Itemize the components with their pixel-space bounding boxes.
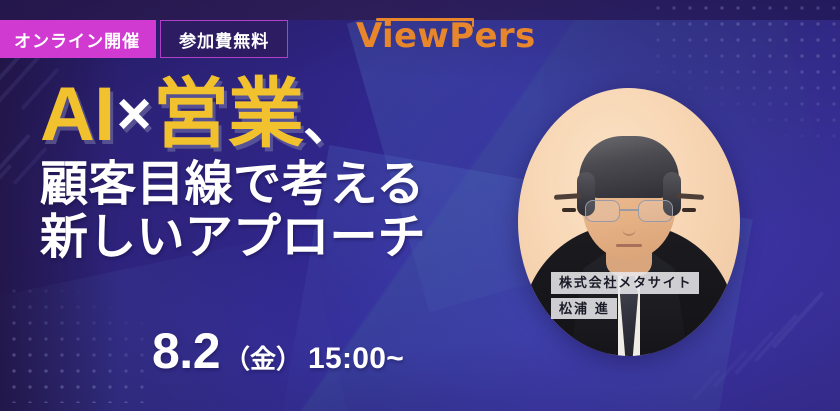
multiply-icon: × <box>114 80 152 147</box>
badge-online: オンライン開催 <box>0 20 156 58</box>
lens-right <box>638 200 673 222</box>
webinar-banner: オンライン開催 参加費無料 ViewPers AI×営業、 顧客目線で考える 新… <box>0 0 840 411</box>
lens-left <box>585 200 620 222</box>
badge-bar: オンライン開催 参加費無料 <box>0 20 288 58</box>
headline-block: AI×営業、 顧客目線で考える 新しいアプローチ <box>40 78 426 263</box>
event-date: 8.2 <box>152 326 220 376</box>
speaker-company: 株式会社メタサイト <box>551 272 699 294</box>
badge-free: 参加費無料 <box>160 20 288 58</box>
headline-line-1: AI×営業、 <box>40 78 426 152</box>
headline-line-2: 顧客目線で考える <box>40 160 426 210</box>
speaker-name: 松浦 進 <box>551 298 617 320</box>
mouth-shape <box>616 244 642 247</box>
logo-overline-mark <box>376 18 474 21</box>
event-time: 15:00~ <box>308 342 404 376</box>
headline-comma: 、 <box>303 95 352 151</box>
headline-line-3: 新しいアプローチ <box>40 213 426 263</box>
headline-ai-text: AI <box>40 72 114 157</box>
viewpers-logo: ViewPers <box>356 16 536 53</box>
headline-sales-text: 営業 <box>153 72 303 157</box>
eye-right <box>682 208 696 212</box>
glasses-bridge <box>620 209 638 211</box>
logo-text: ViewPers <box>356 16 536 56</box>
speaker-info: 株式会社メタサイト 松浦 進 <box>551 272 699 319</box>
nose-shape <box>622 220 636 236</box>
event-weekday: （金） <box>224 339 302 376</box>
event-datetime: 8.2 （金） 15:00~ <box>152 326 404 376</box>
eye-left <box>562 208 576 212</box>
